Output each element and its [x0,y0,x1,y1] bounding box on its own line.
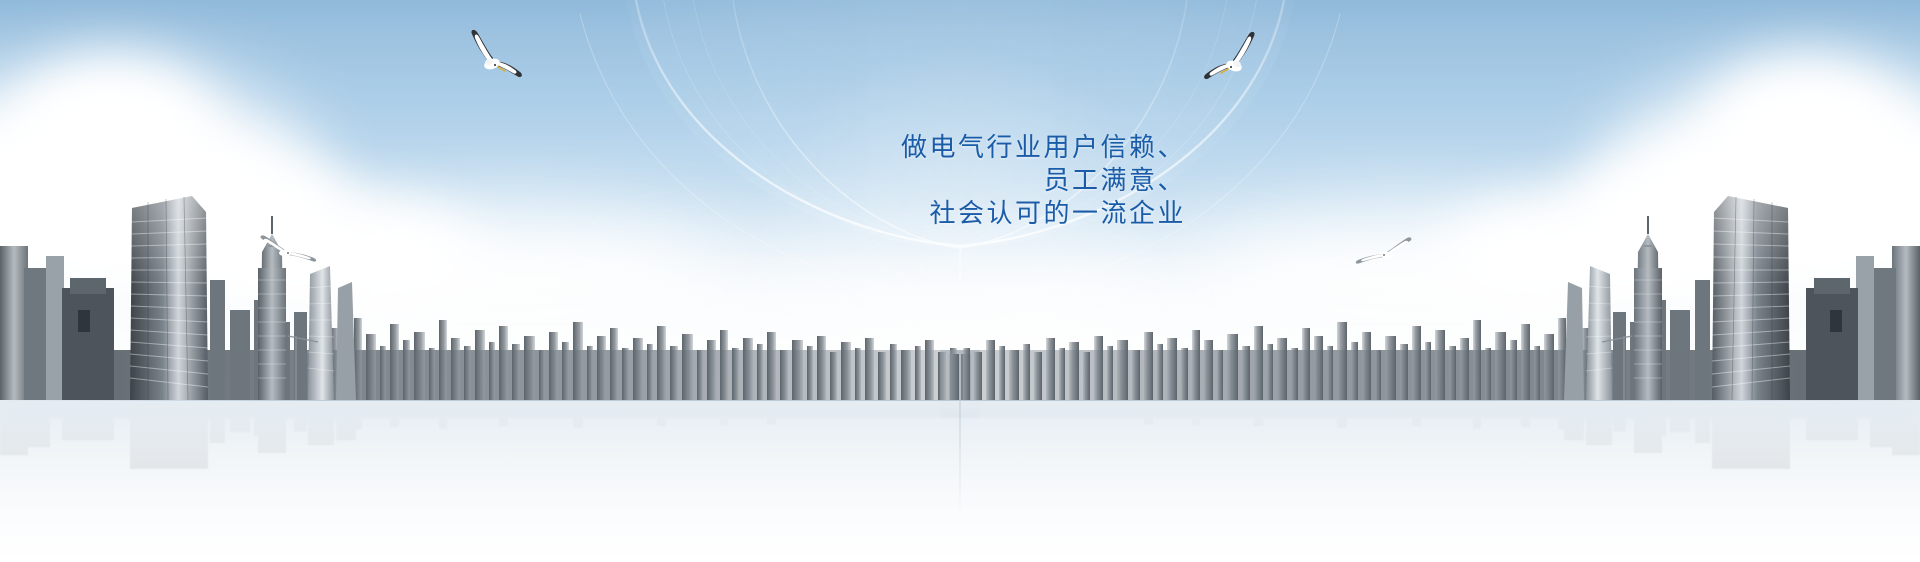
slogan-line-1: 做电气行业用户信赖、 [0,132,1186,165]
hero-banner: 做电气行业用户信赖、 员工满意、 社会认可的一流企业 [0,0,1920,562]
horizon-line [0,400,1920,401]
ground-plane [0,400,1920,562]
slogan-line-2: 员工满意、 [0,165,1186,198]
slogan-line-3: 社会认可的一流企业 [0,198,1186,231]
slogan-block: 做电气行业用户信赖、 员工满意、 社会认可的一流企业 [0,132,1186,231]
